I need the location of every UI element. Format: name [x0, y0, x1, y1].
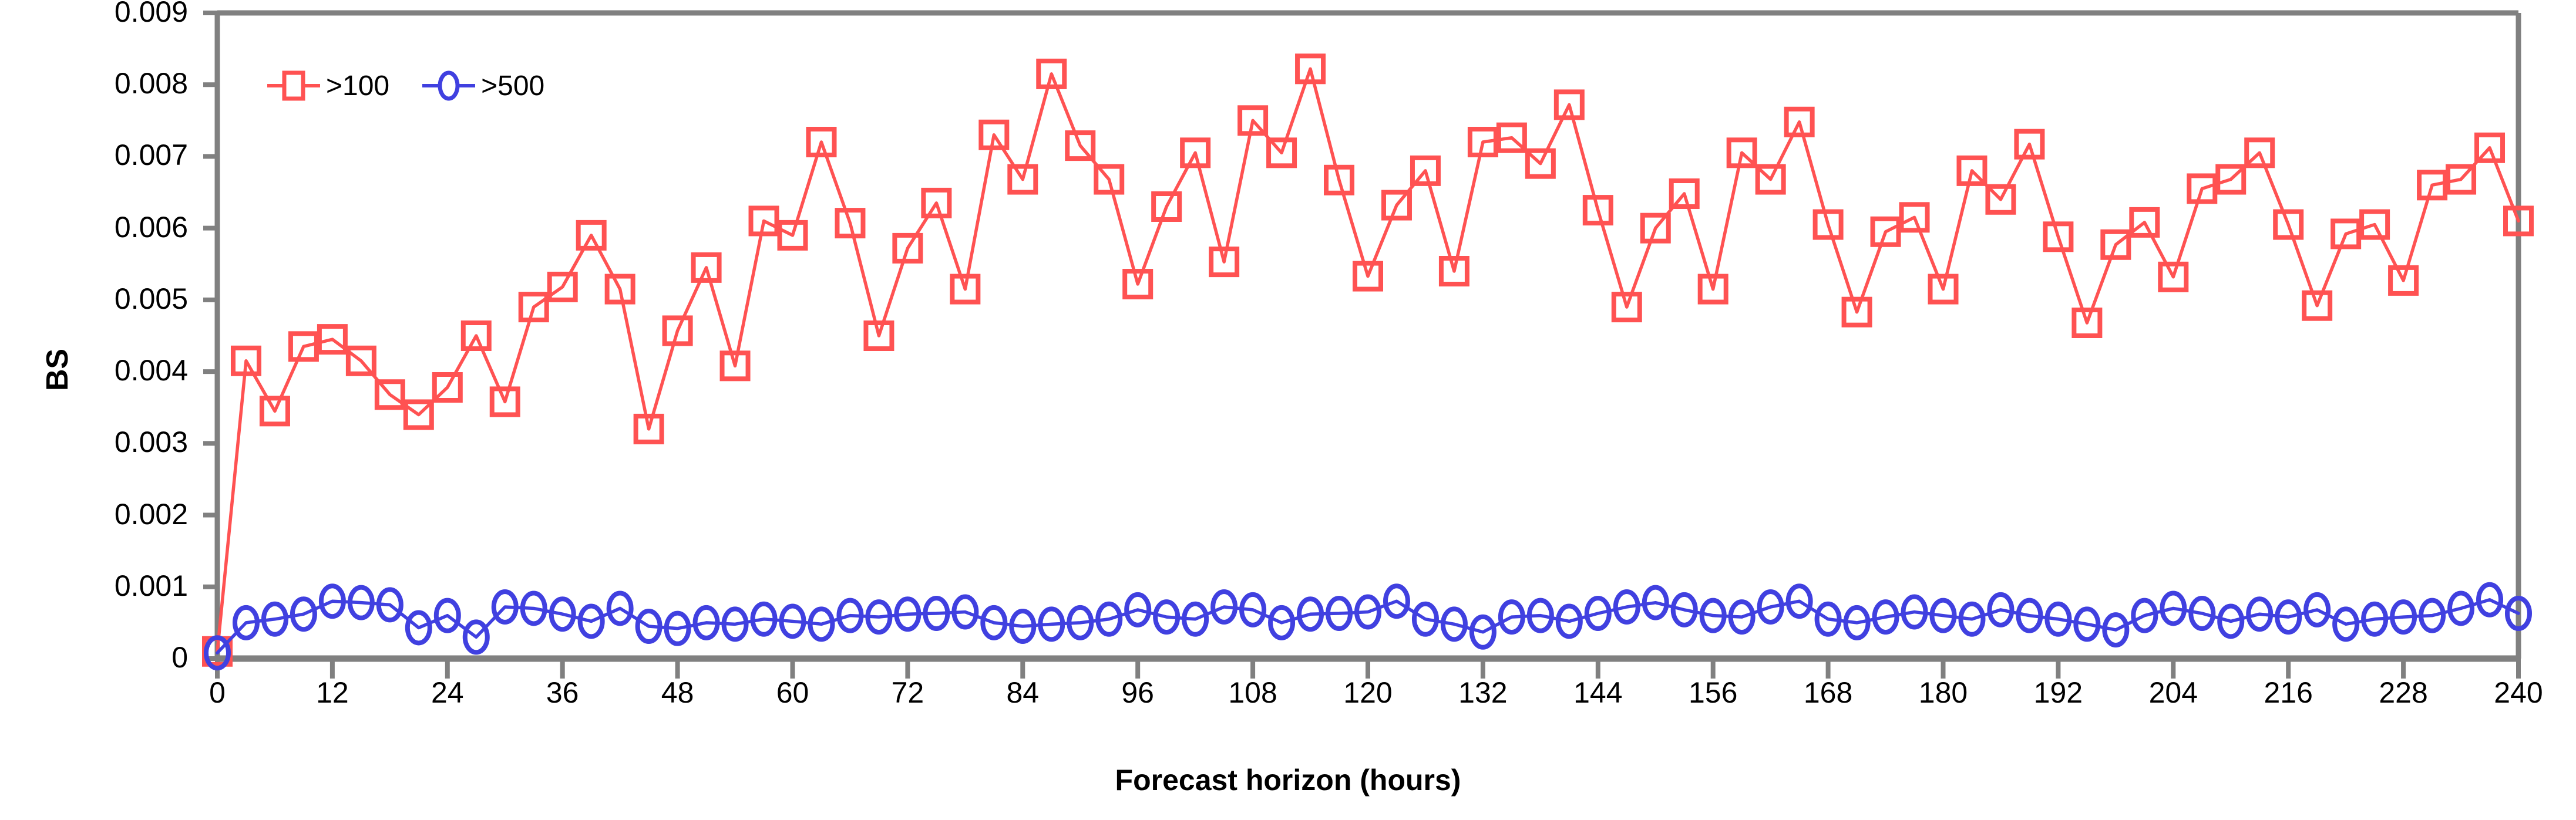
data-point-marker	[1788, 586, 1811, 616]
data-point-marker	[1760, 592, 1782, 622]
data-point-marker	[1731, 602, 1753, 632]
data-point-marker	[1096, 167, 1122, 193]
data-point-marker	[1011, 611, 1034, 642]
data-point-marker	[206, 637, 228, 668]
data-point-marker	[866, 323, 892, 349]
data-point-marker	[1558, 606, 1580, 636]
data-point-marker	[1960, 604, 1983, 635]
data-point-marker	[1673, 595, 1696, 625]
axis-lines	[217, 13, 2518, 659]
data-point-marker	[1988, 187, 2013, 212]
data-point-marker	[2191, 598, 2213, 629]
data-point-marker	[2448, 167, 2474, 193]
data-point-marker	[1413, 158, 1438, 184]
data-point-marker	[1702, 600, 1724, 631]
data-point-marker	[292, 599, 315, 629]
data-point-marker	[1126, 595, 1149, 625]
data-point-marker	[782, 606, 804, 636]
data-point-marker	[1269, 140, 1294, 166]
data-point-marker	[1672, 181, 1697, 207]
data-point-marker	[636, 416, 662, 442]
data-point-marker	[551, 599, 574, 629]
data-point-marker	[1385, 586, 1408, 616]
data-point-marker	[1328, 598, 1350, 629]
data-point-marker	[580, 606, 603, 636]
data-point-marker	[896, 599, 919, 629]
data-point-marker	[2306, 595, 2328, 625]
data-point-marker	[235, 608, 257, 638]
data-point-marker	[2479, 585, 2501, 615]
data-point-marker	[695, 608, 718, 638]
data-point-marker	[1585, 197, 1611, 223]
data-point-marker	[609, 593, 631, 623]
data-point-marker	[839, 600, 861, 631]
data-point-marker	[810, 609, 832, 639]
data-point-marker	[2419, 172, 2445, 198]
data-point-marker	[1125, 271, 1151, 297]
data-point-marker	[2362, 212, 2387, 238]
data-point-marker	[1501, 602, 1523, 632]
data-point-marker	[521, 294, 547, 320]
data-point-marker	[751, 208, 777, 234]
data-point-marker	[981, 122, 1007, 148]
data-point-marker	[2247, 140, 2272, 166]
data-point-marker	[2392, 602, 2414, 632]
data-point-marker	[1817, 604, 1839, 635]
data-point-marker	[550, 274, 576, 300]
data-point-marker	[408, 612, 430, 643]
data-point-marker	[952, 276, 978, 302]
data-point-marker	[1297, 56, 1323, 82]
data-point-marker	[2477, 135, 2503, 161]
data-point-marker	[320, 326, 345, 352]
data-point-marker	[1529, 600, 1552, 631]
data-point-marker	[1414, 604, 1437, 635]
data-point-marker	[1875, 602, 1897, 632]
data-point-marker	[1384, 193, 1410, 218]
data-point-marker	[2304, 293, 2330, 319]
data-point-marker	[753, 604, 775, 635]
data-point-marker	[523, 593, 545, 623]
data-point-marker	[1299, 599, 1321, 629]
data-point-marker	[2103, 232, 2128, 258]
data-point-marker	[321, 586, 344, 616]
data-point-marker	[1528, 151, 1553, 177]
data-point-marker	[2335, 609, 2357, 639]
data-point-marker	[1069, 608, 1091, 638]
data-point-marker	[291, 333, 317, 359]
data-point-marker	[1700, 276, 1726, 302]
legend-marker-circle-icon	[422, 69, 475, 102]
data-point-marker	[1989, 595, 2012, 625]
data-point-marker	[1643, 215, 1669, 241]
data-point-marker	[925, 598, 947, 629]
data-point-marker	[1326, 167, 1352, 193]
data-point-marker	[436, 600, 459, 631]
data-point-marker	[2506, 208, 2531, 234]
data-point-marker	[2076, 609, 2098, 639]
legend-label-gt100: >100	[326, 70, 389, 102]
data-point-marker	[1932, 600, 1955, 631]
data-point-marker	[2248, 599, 2271, 629]
data-point-marker	[465, 622, 487, 652]
data-point-marker	[377, 382, 403, 407]
data-point-marker	[894, 235, 920, 261]
data-point-marker	[1902, 204, 1928, 230]
data-point-marker	[2074, 310, 2100, 336]
data-point-marker	[1499, 125, 1525, 151]
data-point-marker	[1211, 249, 1237, 275]
data-point-marker	[463, 323, 489, 349]
data-point-marker	[1645, 588, 1667, 618]
data-point-marker	[638, 611, 660, 642]
chart-figure: BS 00.0010.0020.0030.0040.0050.0060.0070…	[0, 0, 2576, 820]
data-point-marker	[406, 401, 432, 427]
data-point-marker	[2450, 593, 2472, 623]
data-point-marker	[2133, 600, 2155, 631]
data-point-marker	[667, 613, 689, 644]
data-point-marker	[2421, 600, 2443, 631]
data-point-marker	[923, 190, 949, 216]
data-point-marker	[1556, 92, 1582, 117]
data-point-marker	[1815, 212, 1841, 238]
data-point-marker	[954, 597, 976, 627]
data-point-marker	[724, 609, 746, 639]
plot-area	[0, 0, 2576, 820]
data-point-marker	[1098, 604, 1120, 635]
data-point-marker	[2363, 604, 2386, 635]
data-point-marker	[2047, 604, 2069, 635]
data-point-marker	[264, 604, 286, 635]
data-point-marker	[2507, 598, 2530, 629]
data-point-marker	[1038, 61, 1064, 87]
data-point-marker	[1472, 617, 1494, 647]
data-point-marker	[1184, 604, 1206, 635]
data-point-marker	[2218, 167, 2244, 193]
data-point-marker	[1182, 140, 1208, 166]
data-point-marker	[1155, 602, 1178, 632]
data-point-marker	[1213, 592, 1235, 622]
data-point-marker	[694, 255, 719, 281]
data-point-marker	[2045, 224, 2071, 249]
data-point-marker	[2131, 210, 2157, 235]
data-point-marker	[780, 222, 806, 248]
data-point-marker	[808, 129, 834, 155]
data-point-marker	[665, 318, 691, 343]
data-point-marker	[262, 398, 288, 424]
data-point-marker	[1240, 107, 1266, 133]
data-point-marker	[379, 589, 401, 620]
data-point-marker	[1758, 167, 1784, 193]
data-point-marker	[1587, 598, 1609, 629]
data-point-marker	[1154, 194, 1179, 220]
data-point-marker	[492, 389, 518, 414]
data-point-marker	[1242, 595, 1264, 625]
data-point-marker	[1904, 597, 1926, 627]
legend-label-gt500: >500	[481, 70, 544, 102]
data-point-marker	[1846, 608, 1868, 638]
data-point-marker	[2104, 615, 2127, 645]
data-point-marker	[1931, 276, 1956, 302]
data-point-marker	[1844, 299, 1870, 325]
data-point-marker	[1873, 219, 1899, 245]
data-point-marker	[2160, 264, 2186, 290]
data-point-marker	[2189, 176, 2215, 201]
data-point-marker	[579, 222, 604, 248]
data-point-marker	[494, 592, 516, 622]
chart-legend: >100 >500	[267, 69, 544, 102]
x-axis-title: Forecast horizon (hours)	[0, 763, 2576, 797]
data-point-marker	[2277, 602, 2299, 632]
data-point-marker	[348, 348, 374, 374]
data-point-marker	[1729, 140, 1755, 166]
data-point-marker	[2333, 221, 2359, 247]
data-point-marker	[2016, 131, 2042, 157]
data-point-marker	[2219, 606, 2242, 636]
data-point-marker	[607, 276, 633, 302]
data-point-marker	[1010, 167, 1035, 193]
data-point-marker	[1067, 133, 1093, 158]
data-point-marker	[1441, 258, 1467, 284]
data-point-marker	[2162, 593, 2184, 623]
data-point-marker	[983, 608, 1005, 638]
data-point-marker	[722, 353, 748, 379]
data-point-marker	[1355, 264, 1381, 289]
data-point-marker	[837, 210, 863, 236]
data-point-marker	[867, 602, 890, 632]
data-point-marker	[1470, 129, 1496, 155]
data-point-marker	[1616, 592, 1638, 622]
data-point-marker	[1443, 609, 1465, 639]
data-point-marker	[2018, 600, 2040, 631]
data-point-marker	[435, 374, 460, 400]
data-series-gt100	[204, 56, 2531, 664]
data-point-marker	[1357, 597, 1379, 627]
x-axis-ticks	[217, 659, 2518, 679]
legend-entry-gt100: >100	[267, 69, 389, 102]
legend-marker-square-icon	[267, 69, 320, 102]
data-point-marker	[1787, 109, 1812, 135]
data-point-marker	[1959, 158, 1985, 184]
data-point-marker	[1614, 294, 1640, 320]
legend-entry-gt500: >500	[422, 69, 544, 102]
data-point-marker	[1270, 608, 1293, 638]
data-point-marker	[1040, 609, 1062, 639]
data-point-marker	[2390, 268, 2416, 293]
data-point-marker	[350, 588, 372, 618]
data-point-marker	[2275, 212, 2301, 238]
data-point-marker	[233, 348, 259, 374]
